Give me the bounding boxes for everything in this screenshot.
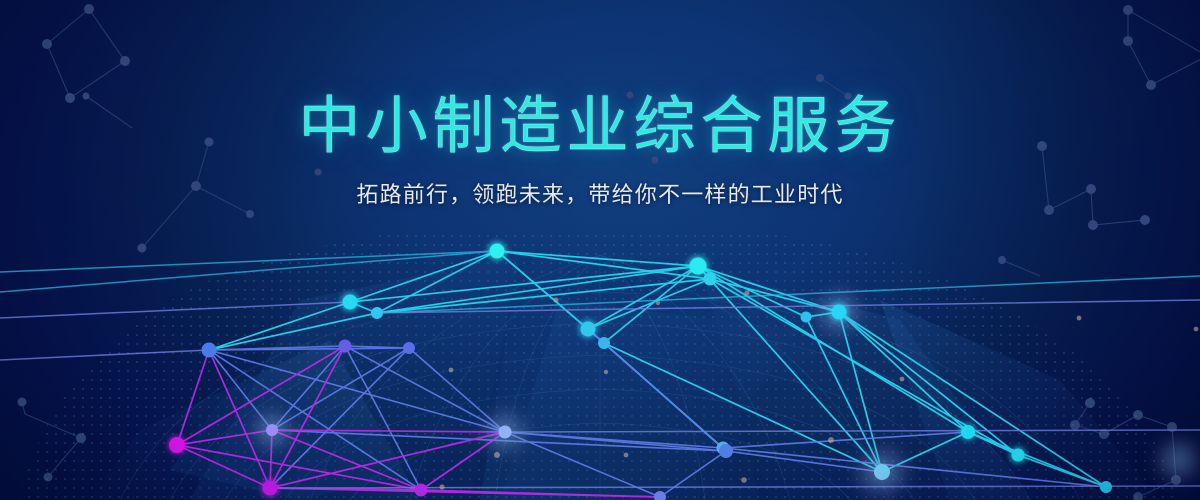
background-vignette [0,0,1200,500]
hero-banner: 中小制造业综合服务 拓路前行，领跑未来，带给你不一样的工业时代 [0,0,1200,500]
